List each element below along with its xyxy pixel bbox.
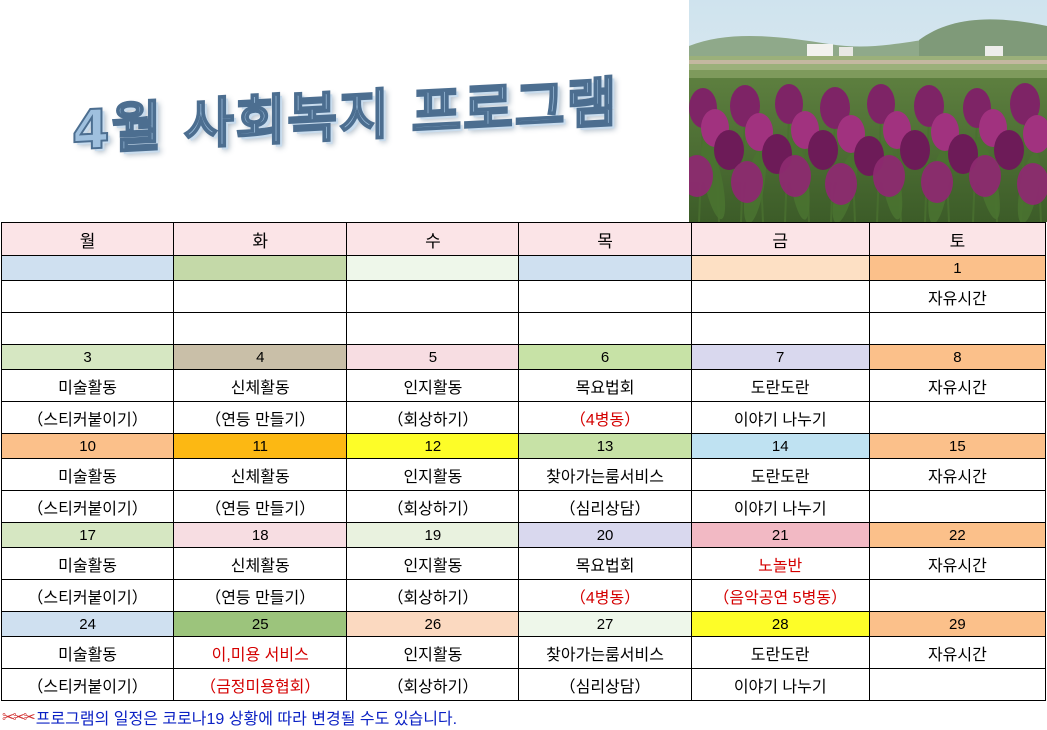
day-number-cell: 11 — [174, 434, 347, 459]
event-cell: （스티커붙이기） — [2, 402, 174, 434]
event-cell: （연등 만들기） — [174, 580, 347, 612]
event-cell: 미술활동 — [2, 637, 174, 669]
weekday-header-mon: 월 — [2, 223, 174, 256]
event-cell: 미술활동 — [2, 370, 174, 402]
event-cell: 자유시간 — [869, 548, 1045, 580]
event-cell: 미술활동 — [2, 548, 174, 580]
event-cell — [869, 491, 1045, 523]
event-cell: 인지활동 — [347, 548, 519, 580]
event-cell: （심리상담） — [519, 669, 691, 701]
day-number-cell: 22 — [869, 523, 1045, 548]
event-cell — [519, 281, 691, 313]
event-cell: 인지활동 — [347, 370, 519, 402]
day-number-cell: 27 — [519, 612, 691, 637]
calendar-daynum-row: 101112131415 — [2, 434, 1046, 459]
event-cell: （심리상담） — [519, 491, 691, 523]
event-cell — [2, 281, 174, 313]
day-number-cell: 7 — [691, 345, 869, 370]
event-cell: 신체활동 — [174, 459, 347, 491]
calendar-event-row: 미술활동신체활동인지활동목요법회노놀반자유시간 — [2, 548, 1046, 580]
day-number-cell: 21 — [691, 523, 869, 548]
day-number-cell: 15 — [869, 434, 1045, 459]
event-cell: （스티커붙이기） — [2, 669, 174, 701]
event-cell: 신체활동 — [174, 548, 347, 580]
event-cell: （음악공연 5병동） — [691, 580, 869, 612]
day-number-cell: 28 — [691, 612, 869, 637]
event-cell: 이야기 나누기 — [691, 402, 869, 434]
day-number-cell: 20 — [519, 523, 691, 548]
title-area: 4월 사회복지 프로그램 — [0, 0, 690, 222]
day-number-cell — [174, 256, 347, 281]
event-cell — [174, 281, 347, 313]
weekday-header-wed: 수 — [347, 223, 519, 256]
page-header: 4월 사회복지 프로그램 — [0, 0, 1047, 222]
event-cell: 이야기 나누기 — [691, 669, 869, 701]
event-cell: （회상하기） — [347, 669, 519, 701]
calendar-daynum-row: 242526272829 — [2, 612, 1046, 637]
weekday-header-tue: 화 — [174, 223, 347, 256]
calendar-event-row: （스티커붙이기）（금정미용협회）（회상하기）（심리상담）이야기 나누기 — [2, 669, 1046, 701]
day-number-cell: 5 — [347, 345, 519, 370]
day-number-cell — [691, 256, 869, 281]
event-cell: 이야기 나누기 — [691, 491, 869, 523]
day-number-cell: 3 — [2, 345, 174, 370]
event-cell: 목요법회 — [519, 548, 691, 580]
day-number-cell: 10 — [2, 434, 174, 459]
event-cell: 도란도란 — [691, 370, 869, 402]
calendar-event-row — [2, 313, 1046, 345]
day-number-cell: 8 — [869, 345, 1045, 370]
event-cell — [691, 281, 869, 313]
event-cell: 자유시간 — [869, 281, 1045, 313]
event-cell — [691, 313, 869, 345]
event-cell: 노놀반 — [691, 548, 869, 580]
day-number-cell — [519, 256, 691, 281]
page-title: 4월 사회복지 프로그램 — [72, 57, 618, 165]
event-cell — [347, 313, 519, 345]
event-cell — [869, 669, 1045, 701]
day-number-cell: 13 — [519, 434, 691, 459]
event-cell: （회상하기） — [347, 402, 519, 434]
event-cell — [869, 402, 1045, 434]
day-number-cell: 17 — [2, 523, 174, 548]
event-cell: 찾아가는룸서비스 — [519, 459, 691, 491]
event-cell: 미술활동 — [2, 459, 174, 491]
day-number-cell: 1 — [869, 256, 1045, 281]
event-cell: 인지활동 — [347, 637, 519, 669]
tulip-photo — [689, 0, 1047, 222]
event-cell: 도란도란 — [691, 459, 869, 491]
tulip-field-image — [689, 0, 1047, 222]
calendar-event-row: （스티커붙이기）（연등 만들기）（회상하기）（4병동）이야기 나누기 — [2, 402, 1046, 434]
day-number-cell: 24 — [2, 612, 174, 637]
day-number-cell: 26 — [347, 612, 519, 637]
day-number-cell: 19 — [347, 523, 519, 548]
event-cell — [174, 313, 347, 345]
calendar-event-row: 미술활동신체활동인지활동목요법회도란도란자유시간 — [2, 370, 1046, 402]
event-cell: （회상하기） — [347, 580, 519, 612]
day-number-cell: 29 — [869, 612, 1045, 637]
day-number-cell: 4 — [174, 345, 347, 370]
event-cell: （4병동） — [519, 580, 691, 612]
weekday-header-fri: 금 — [691, 223, 869, 256]
program-calendar: 월 화 수 목 금 토 1자유시간345678미술활동신체활동인지활동목요법회도… — [1, 222, 1046, 701]
footer-note-text: 프로그램의 일정은 코로나19 상황에 따라 변경될 수도 있습니다. — [36, 705, 457, 729]
day-number-cell: 12 — [347, 434, 519, 459]
calendar-event-row: 자유시간 — [2, 281, 1046, 313]
day-number-cell — [347, 256, 519, 281]
event-cell: （4병동） — [519, 402, 691, 434]
footer-note: ✂✂✂ 프로그램의 일정은 코로나19 상황에 따라 변경될 수도 있습니다. — [0, 704, 1047, 730]
day-number-cell: 6 — [519, 345, 691, 370]
event-cell — [519, 313, 691, 345]
weekday-header-thu: 목 — [519, 223, 691, 256]
day-number-cell: 18 — [174, 523, 347, 548]
event-cell: 자유시간 — [869, 459, 1045, 491]
event-cell — [347, 281, 519, 313]
weekday-header-sat: 토 — [869, 223, 1045, 256]
event-cell: 도란도란 — [691, 637, 869, 669]
event-cell: （스티커붙이기） — [2, 580, 174, 612]
event-cell: 목요법회 — [519, 370, 691, 402]
calendar-body: 1자유시간345678미술활동신체활동인지활동목요법회도란도란자유시간（스티커붙… — [2, 256, 1046, 701]
day-number-cell: 25 — [174, 612, 347, 637]
calendar-event-row: （스티커붙이기）（연등 만들기）（회상하기）（4병동）（음악공연 5병동） — [2, 580, 1046, 612]
event-cell: 이,미용 서비스 — [174, 637, 347, 669]
event-cell — [869, 313, 1045, 345]
event-cell: 찾아가는룸서비스 — [519, 637, 691, 669]
event-cell: 자유시간 — [869, 370, 1045, 402]
calendar-event-row: 미술활동신체활동인지활동찾아가는룸서비스도란도란자유시간 — [2, 459, 1046, 491]
event-cell: 신체활동 — [174, 370, 347, 402]
event-cell — [2, 313, 174, 345]
calendar-event-row: 미술활동이,미용 서비스인지활동찾아가는룸서비스도란도란자유시간 — [2, 637, 1046, 669]
calendar-daynum-row: 1 — [2, 256, 1046, 281]
calendar-event-row: （스티커붙이기）（연등 만들기）（회상하기）（심리상담）이야기 나누기 — [2, 491, 1046, 523]
event-cell: 자유시간 — [869, 637, 1045, 669]
event-cell: 인지활동 — [347, 459, 519, 491]
day-number-cell: 14 — [691, 434, 869, 459]
event-cell: （금정미용협회） — [174, 669, 347, 701]
event-cell — [869, 580, 1045, 612]
weekday-header-row: 월 화 수 목 금 토 — [2, 223, 1046, 256]
ribbon-icon: ✂✂✂ — [2, 710, 34, 725]
calendar-daynum-row: 171819202122 — [2, 523, 1046, 548]
event-cell: （회상하기） — [347, 491, 519, 523]
calendar-daynum-row: 345678 — [2, 345, 1046, 370]
event-cell: （연등 만들기） — [174, 491, 347, 523]
day-number-cell — [2, 256, 174, 281]
event-cell: （스티커붙이기） — [2, 491, 174, 523]
event-cell: （연등 만들기） — [174, 402, 347, 434]
